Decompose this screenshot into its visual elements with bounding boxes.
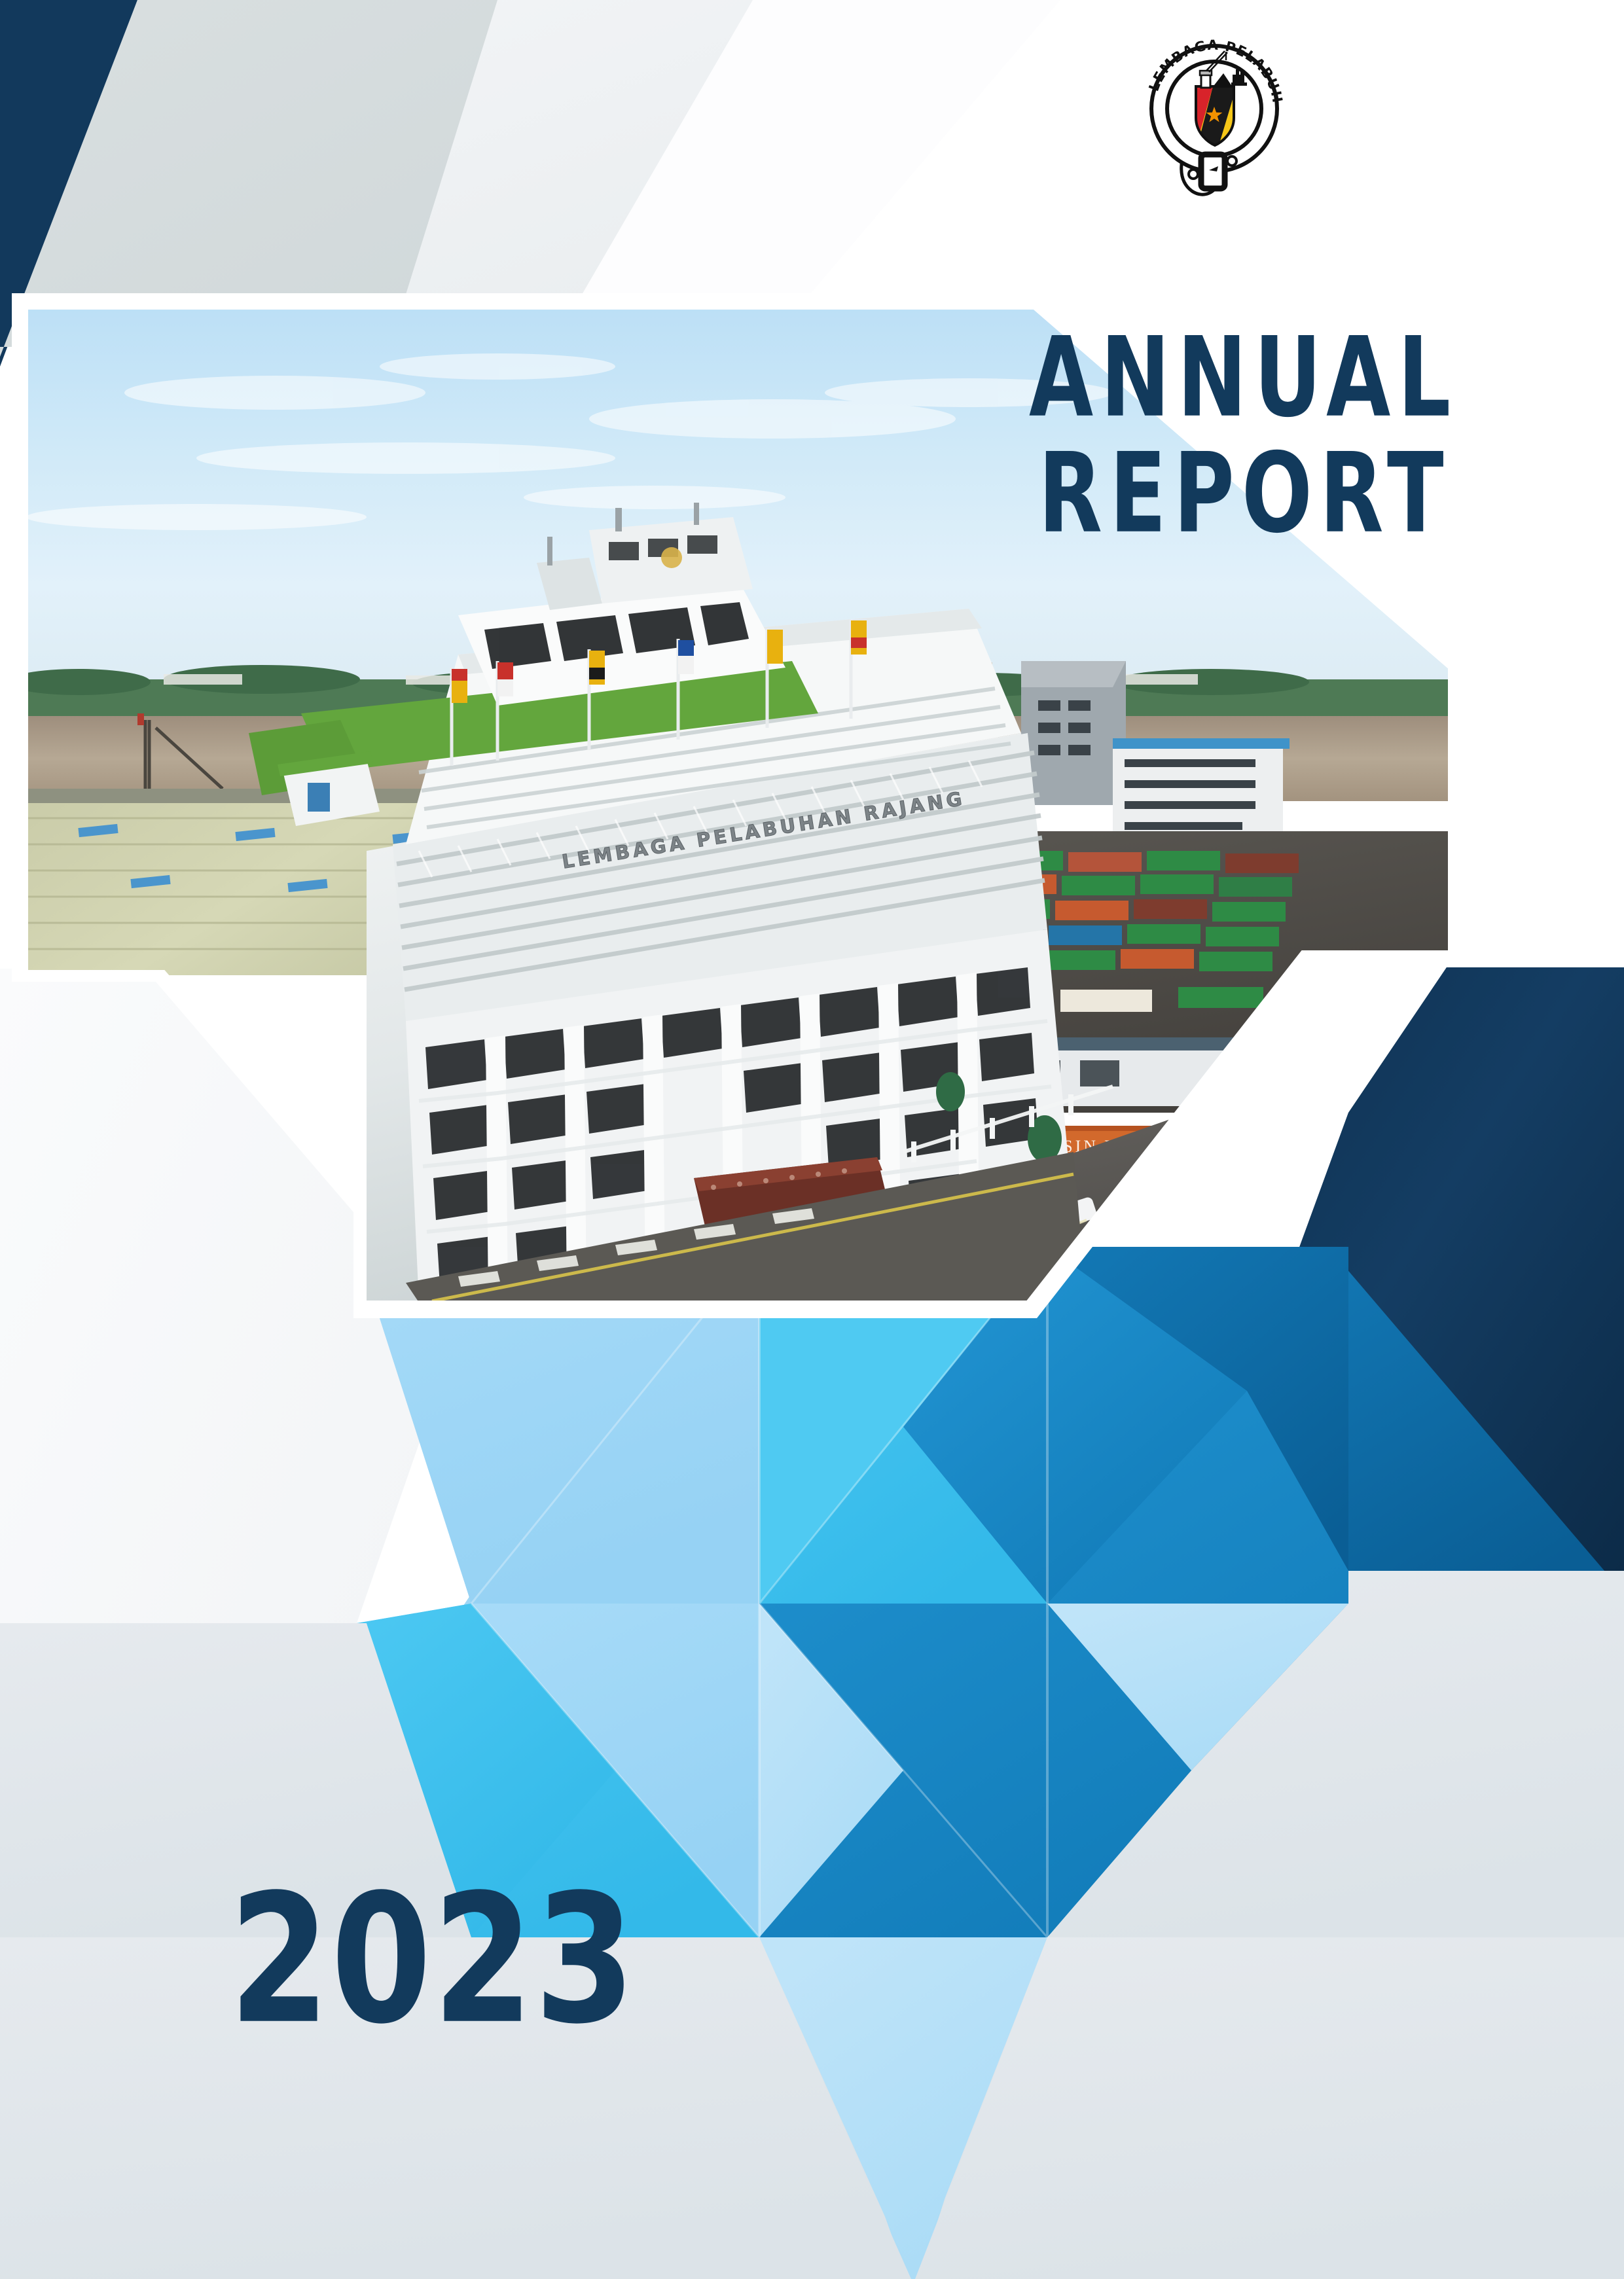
annual-report-cover: SIN YANG: [0, 0, 1624, 2279]
report-year: 2023: [229, 1872, 653, 2022]
logo-crest: LEMBAGA PELABUHAN RAJANG: [1141, 31, 1288, 215]
year-value: 2023: [229, 1872, 636, 2049]
title-line-report: REPORT: [939, 423, 1542, 564]
organization-logo: LEMBAGA PELABUHAN RAJANG: [1141, 31, 1288, 215]
page-title: ANNUAL REPORT: [913, 308, 1568, 583]
